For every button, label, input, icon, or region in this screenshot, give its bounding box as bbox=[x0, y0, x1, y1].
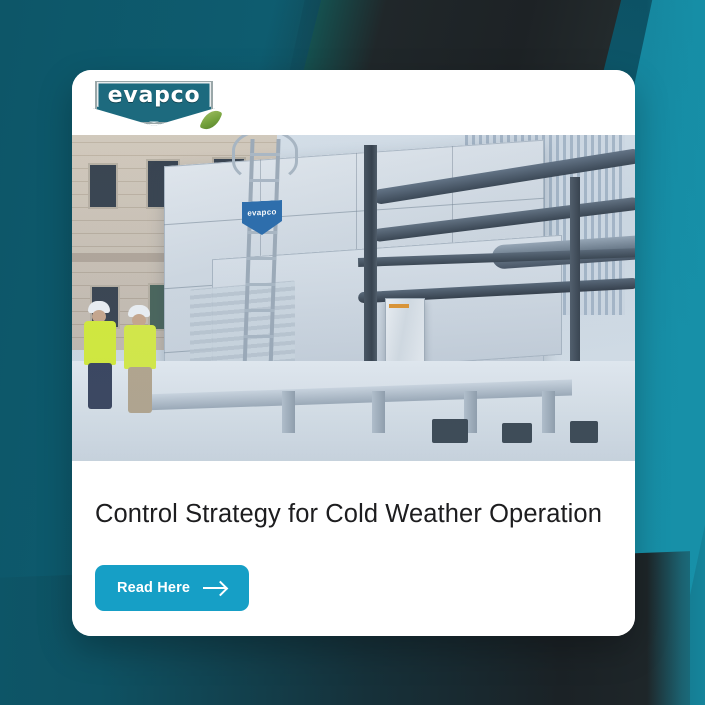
logo-wordmark: evapco bbox=[93, 85, 215, 107]
hero-image: evapco bbox=[72, 135, 635, 461]
card-header: evapco bbox=[72, 70, 635, 135]
evapco-logo[interactable]: evapco bbox=[93, 79, 215, 126]
card-title: Control Strategy for Cold Weather Operat… bbox=[95, 499, 612, 531]
read-here-label: Read Here bbox=[117, 580, 190, 596]
hero-worker-1 bbox=[84, 301, 116, 409]
cta-row: Read Here bbox=[95, 565, 612, 611]
background-right-edge bbox=[647, 0, 705, 705]
arrow-right-icon bbox=[203, 587, 226, 589]
card-body: Control Strategy for Cold Weather Operat… bbox=[72, 461, 635, 636]
page-root: evapco bbox=[0, 0, 705, 705]
read-here-button[interactable]: Read Here bbox=[95, 565, 249, 611]
hero-worker-2 bbox=[124, 305, 156, 413]
content-card: evapco bbox=[72, 70, 635, 636]
hero-sign-text: evapco bbox=[242, 207, 282, 218]
